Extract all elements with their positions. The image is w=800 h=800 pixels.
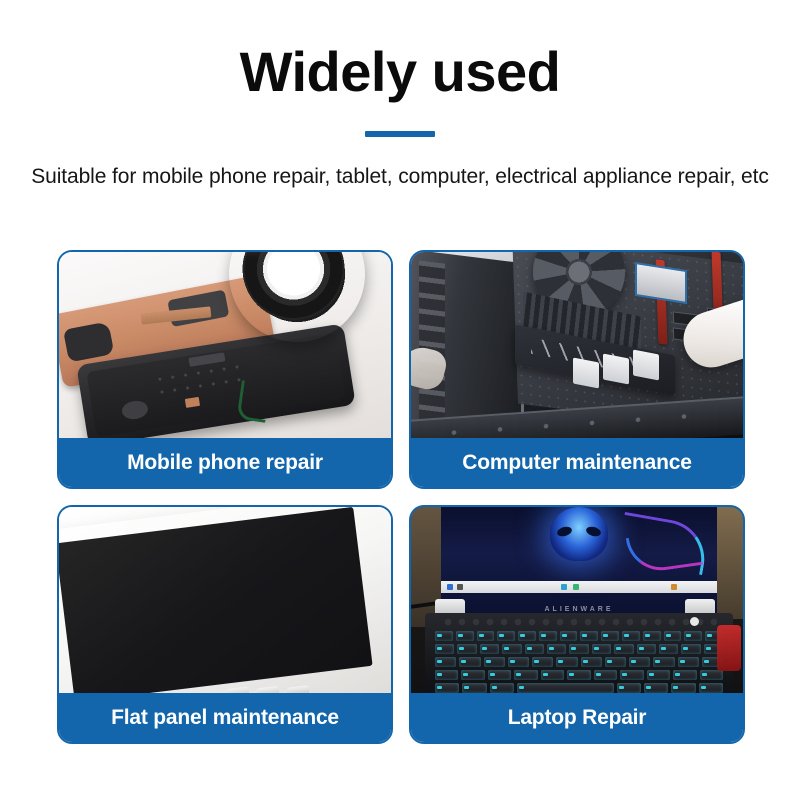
laptop-screen-icon: ALIENWARE: [441, 507, 717, 615]
card-label-flat-panel-maintenance: Flat panel maintenance: [58, 693, 392, 743]
key: [699, 683, 723, 693]
card-laptop-repair[interactable]: ALIENWARE: [409, 505, 745, 744]
key: [456, 631, 474, 641]
key: [653, 657, 674, 667]
keyboard-row: [435, 657, 723, 667]
key: [671, 683, 695, 693]
keyboard-row: [435, 670, 723, 680]
key: [490, 683, 514, 693]
laptop-vents-icon: [441, 615, 717, 629]
red-object-icon: [717, 625, 741, 671]
photo-mobile-phone-repair: [59, 252, 391, 442]
connector-icon: [603, 353, 629, 384]
keyboard-row: [435, 631, 723, 641]
key: [614, 644, 633, 654]
key: [435, 631, 453, 641]
key: [514, 670, 537, 680]
key: [605, 657, 626, 667]
key: [435, 670, 458, 680]
key: [644, 683, 668, 693]
key: [508, 657, 529, 667]
taskbar-icon: [671, 584, 677, 590]
key: [435, 644, 454, 654]
key: [592, 644, 611, 654]
card-computer-maintenance[interactable]: Computer maintenance: [409, 250, 745, 489]
key: [622, 631, 640, 641]
key: [567, 670, 590, 680]
key: [569, 644, 588, 654]
key: [659, 644, 678, 654]
page-title: Widely used: [0, 44, 800, 100]
card-mobile-phone-repair[interactable]: Mobile phone repair: [57, 250, 393, 489]
tablet-screen: [59, 507, 373, 697]
card-label-laptop-repair: Laptop Repair: [410, 693, 744, 743]
keyboard-row: [435, 683, 723, 693]
green-wire-icon: [236, 380, 270, 423]
key: [643, 631, 661, 641]
key: [594, 670, 617, 680]
photo-laptop-repair: ALIENWARE: [411, 507, 743, 697]
key: [547, 644, 566, 654]
key: [673, 670, 696, 680]
key: [580, 631, 598, 641]
connector-icon: [633, 349, 659, 380]
key: [700, 670, 723, 680]
use-case-card-grid: Mobile phone repair Compute: [57, 250, 745, 744]
taskbar-icon: [447, 584, 453, 590]
key: [435, 657, 456, 667]
power-button-icon: [690, 617, 699, 626]
key: [477, 631, 495, 641]
key: [681, 644, 700, 654]
taskbar-icon: [457, 584, 463, 590]
key: [601, 631, 619, 641]
key: [525, 644, 544, 654]
laptop-keyboard-icon: [435, 631, 723, 693]
taskbar-icon: [561, 584, 567, 590]
spacebar: [517, 683, 614, 693]
key: [457, 644, 476, 654]
tablet-icon: [59, 507, 391, 697]
alien-head-logo-icon: [550, 507, 608, 561]
key: [502, 644, 521, 654]
page-subtitle: Suitable for mobile phone repair, tablet…: [0, 165, 800, 189]
key: [488, 670, 511, 680]
taskbar: [441, 581, 717, 593]
key: [647, 670, 670, 680]
connector-icon: [573, 357, 599, 388]
key: [541, 670, 564, 680]
page-header: Widely used Suitable for mobile phone re…: [0, 0, 800, 189]
key: [532, 657, 553, 667]
keyboard-row: [435, 644, 723, 654]
key: [629, 657, 650, 667]
key: [620, 670, 643, 680]
card-flat-panel-maintenance[interactable]: Flat panel maintenance: [57, 505, 393, 744]
card-label-mobile-phone-repair: Mobile phone repair: [58, 438, 392, 488]
key: [518, 631, 536, 641]
key: [539, 631, 557, 641]
card-label-computer-maintenance: Computer maintenance: [410, 438, 744, 488]
key: [664, 631, 682, 641]
key: [462, 683, 486, 693]
key: [556, 657, 577, 667]
taskbar-icon: [573, 584, 579, 590]
title-accent-bar: [365, 131, 435, 137]
key: [678, 657, 699, 667]
key: [637, 644, 656, 654]
key: [684, 631, 702, 641]
photo-computer-maintenance: [411, 252, 743, 442]
photo-flat-panel-maintenance: [59, 507, 391, 697]
key: [480, 644, 499, 654]
key: [435, 683, 459, 693]
key: [560, 631, 578, 641]
key: [484, 657, 505, 667]
key: [497, 631, 515, 641]
laptop-brand-label: ALIENWARE: [441, 606, 717, 613]
key: [617, 683, 641, 693]
key: [581, 657, 602, 667]
key: [459, 657, 480, 667]
key: [461, 670, 484, 680]
